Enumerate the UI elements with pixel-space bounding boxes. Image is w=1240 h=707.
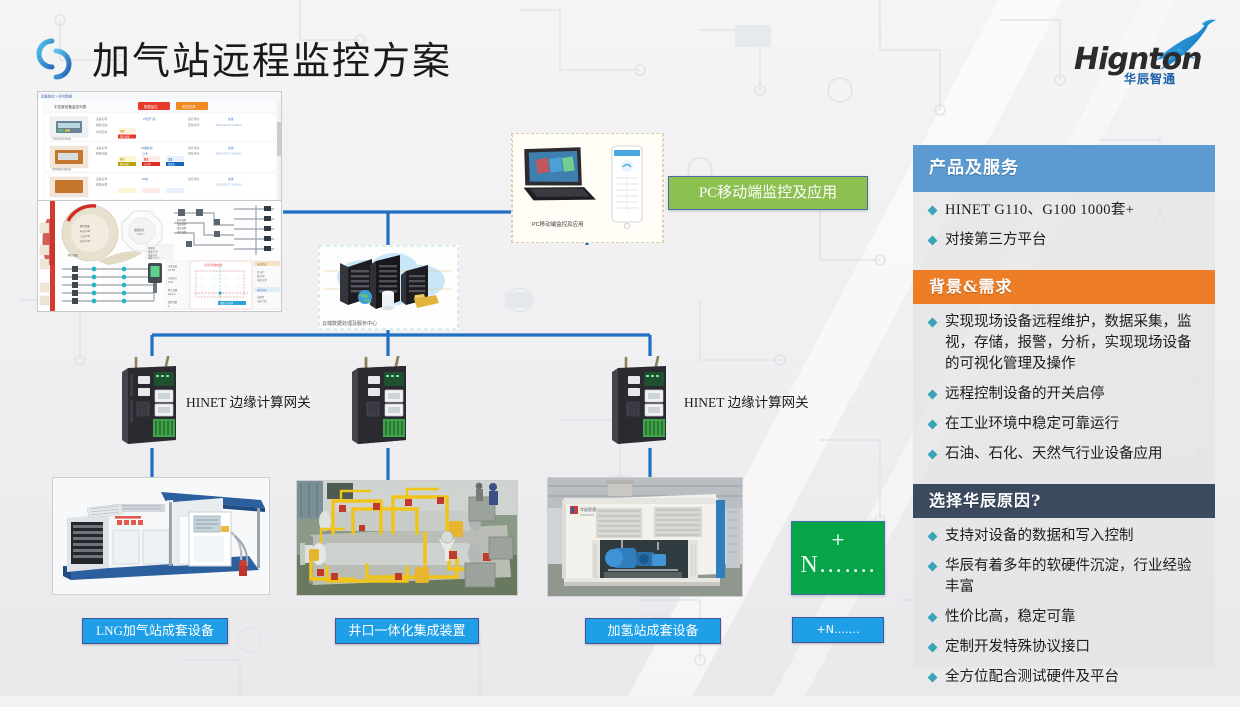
svg-text:0 Pa: 0 Pa: [168, 282, 173, 284]
svg-text:华辰智通监控终端: 华辰智通监控终端: [52, 137, 72, 141]
diamond-bullet-icon: [928, 643, 938, 653]
diamond-bullet-icon: [928, 236, 938, 246]
section-header-background: 背景&需求: [913, 270, 1215, 304]
cloud-caption: 云端数据处理及服务中心: [322, 320, 377, 327]
svg-text:设备状态: 设备状态: [257, 262, 267, 266]
svg-text:更新时间:: 更新时间:: [188, 123, 200, 127]
list-item-text: 在工业环境中稳定可靠运行: [945, 414, 1205, 435]
svg-text:1#撬装站: 1#撬装站: [141, 146, 153, 150]
svg-text:中控室设备监控列表: 中控室设备监控列表: [54, 104, 87, 109]
hinet-gateway-device-3: [608, 356, 690, 448]
list-item-text: 实现现场设备远程维护，数据采集，监视，存储，报警，分析，实现现场设备的可视化管理…: [945, 312, 1205, 375]
list-item: 全方位配合测试硬件及平台: [923, 667, 1205, 688]
hinet-gateway-device-2: [348, 356, 430, 448]
diamond-bullet-icon: [928, 390, 938, 400]
section-body-background: 实现现场设备远程维护，数据采集，监视，存储，报警，分析，实现现场设备的可视化管理…: [913, 304, 1215, 484]
section-body-why-us: 支持对设备的数据和写入控制 华辰有着多年的软硬件沉淀，行业经验丰富 性价比高，稳…: [913, 518, 1215, 707]
page-title: 加气站远程监控方案: [92, 30, 452, 85]
svg-text:2号加气机: 2号加气机: [143, 117, 156, 121]
cloud-data-center-image: 云端数据处理及服务中心: [318, 245, 459, 330]
svg-text:工况 0.00: 工况 0.00: [80, 234, 91, 238]
svg-text:瞬时流量: 瞬时流量: [80, 224, 90, 228]
diamond-bullet-icon: [928, 613, 938, 623]
svg-text:2#站: 2#站: [142, 177, 148, 181]
svg-text:运行状态:: 运行状态:: [188, 177, 200, 181]
svg-text:运行状态:: 运行状态:: [188, 146, 200, 150]
pc-mobile-terminal-image: PC移动端监控及应用: [511, 133, 664, 243]
list-item-text: 华辰有着多年的软硬件沉淀，行业经验丰富: [945, 556, 1205, 598]
equipment-tag-lng[interactable]: LNG加气站成套设备: [82, 618, 228, 644]
svg-text:2019-03-07 10:28:41: 2019-03-07 10:28:41: [216, 152, 242, 156]
diamond-bullet-icon: [928, 562, 938, 572]
svg-text:2019-03-07 10:28:41: 2019-03-07 10:28:41: [216, 123, 242, 127]
svg-text:98: 98: [120, 129, 125, 134]
list-item: 定制开发特殊协议接口: [923, 637, 1205, 658]
svg-text:在线: 在线: [228, 146, 234, 150]
svg-text:标况 0.00: 标况 0.00: [80, 229, 91, 233]
svg-text:设备名称:: 设备名称:: [96, 117, 108, 121]
svg-text:运行状态:: 运行状态:: [188, 117, 200, 121]
svg-text:现场数据采集终端: 现场数据采集终端: [52, 167, 72, 171]
svg-text:更新时间:: 更新时间:: [188, 152, 200, 156]
plus-symbol: +: [792, 530, 884, 550]
svg-text:HIGNTON: HIGNTON: [580, 513, 594, 517]
pc-mobile-monitoring-tag[interactable]: PC移动端监控及应用: [668, 176, 868, 210]
section-body-products: HINET G110、G100 1000套+ 对接第三方平台: [913, 192, 1215, 270]
svg-text:12点: 12点: [142, 152, 148, 156]
svg-text:HGA CH-H2D-B: HGA CH-H2D-B: [664, 488, 696, 493]
lng-station-equipment-photo: [52, 477, 270, 595]
list-item-text: 石油、石化、天然气行业设备应用: [945, 444, 1205, 465]
svg-text:在线: 在线: [228, 177, 234, 181]
list-item: 华辰有着多年的软硬件沉淀，行业经验丰富: [923, 556, 1205, 598]
svg-text:82: 82: [144, 157, 149, 162]
list-item: 对接第三方平台: [923, 230, 1205, 251]
diamond-bullet-icon: [928, 318, 938, 328]
company-logo: Hignton 华辰智通: [1072, 18, 1222, 90]
section-header-why-us: 选择华辰原因?: [913, 484, 1215, 518]
svg-text:数据点数:: 数据点数:: [96, 152, 108, 156]
list-item-text: 定制开发特殊协议接口: [945, 637, 1205, 658]
n-ellipsis-label: N…….: [792, 552, 884, 579]
svg-text:2019-03-07 10:28:41: 2019-03-07 10:28:41: [216, 183, 242, 187]
equipment-tag-hydrogen[interactable]: 加氢站成套设备: [585, 618, 721, 644]
svg-text:65: 65: [120, 157, 125, 162]
svg-text:报警信息: 报警信息: [257, 288, 267, 292]
more-equipment-placeholder: + N…….: [791, 521, 885, 595]
svg-text:单月结算:: 单月结算:: [96, 130, 108, 134]
diamond-bullet-icon: [928, 532, 938, 542]
list-item: 性价比高，稳定可靠: [923, 607, 1205, 628]
list-item-text: HINET G110、G100 1000套+: [945, 200, 1205, 221]
svg-text:0.00 m³: 0.00 m³: [168, 293, 176, 296]
svg-text:设备监控 > 实时数据: 设备监控 > 实时数据: [41, 93, 73, 98]
section-header-products: 产品及服务: [913, 145, 1215, 192]
wellhead-skid-equipment-photo: [296, 480, 518, 596]
scada-process-diagram-screenshot: 瞬时流量标况 0.00 工况 0.00压力 0.00 累计流量 储罐液位 0.0…: [37, 200, 282, 312]
diamond-bullet-icon: [928, 420, 938, 430]
gateway-label-left: HINET 边缘计算网关: [186, 391, 311, 411]
gateway-label-right: HINET 边缘计算网关: [684, 391, 809, 411]
logo-subtext: 华辰智通: [1124, 70, 1176, 87]
list-item-text: 全方位配合测试硬件及平台: [945, 667, 1205, 688]
diamond-bullet-icon: [928, 206, 938, 216]
svg-text:累计流量: 累计流量: [68, 253, 78, 257]
svg-text:0.00 m: 0.00 m: [137, 233, 144, 236]
pc-mobile-caption: PC移动端监控及应用: [532, 220, 584, 228]
svg-text:历史记录: 历史记录: [182, 104, 196, 109]
list-item-text: 性价比高，稳定可靠: [945, 607, 1205, 628]
list-item: 远程控制设备的开关启停: [923, 384, 1205, 405]
list-item-text: 支持对设备的数据和写入控制: [945, 526, 1205, 547]
svg-text:压力 0.00: 压力 0.00: [80, 239, 91, 243]
scada-device-list-screenshot: 设备监控 > 实时数据 中控室设备监控列表 数据监控 历史记录 华辰智通监控终端…: [37, 91, 282, 201]
hydrogen-station-equipment-photo: 华辰智通 HIGNTON HGA CH-H2D-B: [547, 477, 743, 597]
equipment-tag-plus-n[interactable]: +N…….: [792, 617, 884, 643]
equipment-tag-wellhead[interactable]: 井口一体化集成装置: [335, 618, 479, 644]
svg-text:0.0 ℃: 0.0 ℃: [168, 270, 175, 272]
svg-text:设备名称:: 设备名称:: [96, 146, 108, 150]
svg-text:在线: 在线: [228, 117, 234, 121]
svg-text:实时监测曲线图: 实时监测曲线图: [204, 263, 223, 267]
list-item: 实现现场设备远程维护，数据采集，监视，存储，报警，分析，实现现场设备的可视化管理…: [923, 312, 1205, 375]
svg-text:累计流量: 累计流量: [120, 135, 130, 139]
list-item-text: 对接第三方平台: [945, 230, 1205, 251]
svg-text:数据监控: 数据监控: [144, 104, 158, 109]
svg-text:数据点数:: 数据点数:: [96, 123, 108, 127]
list-item: 石油、石化、天然气行业设备应用: [923, 444, 1205, 465]
svg-text:设备名称:: 设备名称:: [96, 177, 108, 181]
list-item-text: 远程控制设备的开关启停: [945, 384, 1205, 405]
info-panel: 产品及服务 HINET G110、G100 1000套+ 对接第三方平台 背景&…: [913, 145, 1215, 667]
list-item: 支持对设备的数据和写入控制: [923, 526, 1205, 547]
brand-rings-icon: [28, 33, 80, 85]
diamond-bullet-icon: [928, 673, 938, 683]
list-item: 在工业环境中稳定可靠运行: [923, 414, 1205, 435]
diamond-bullet-icon: [928, 450, 938, 460]
list-item: HINET G110、G100 1000套+: [923, 200, 1205, 221]
svg-text:数据点数:: 数据点数:: [96, 183, 108, 187]
svg-text:华辰智通: 华辰智通: [580, 506, 596, 512]
svg-text:储罐液位: 储罐液位: [134, 228, 145, 232]
